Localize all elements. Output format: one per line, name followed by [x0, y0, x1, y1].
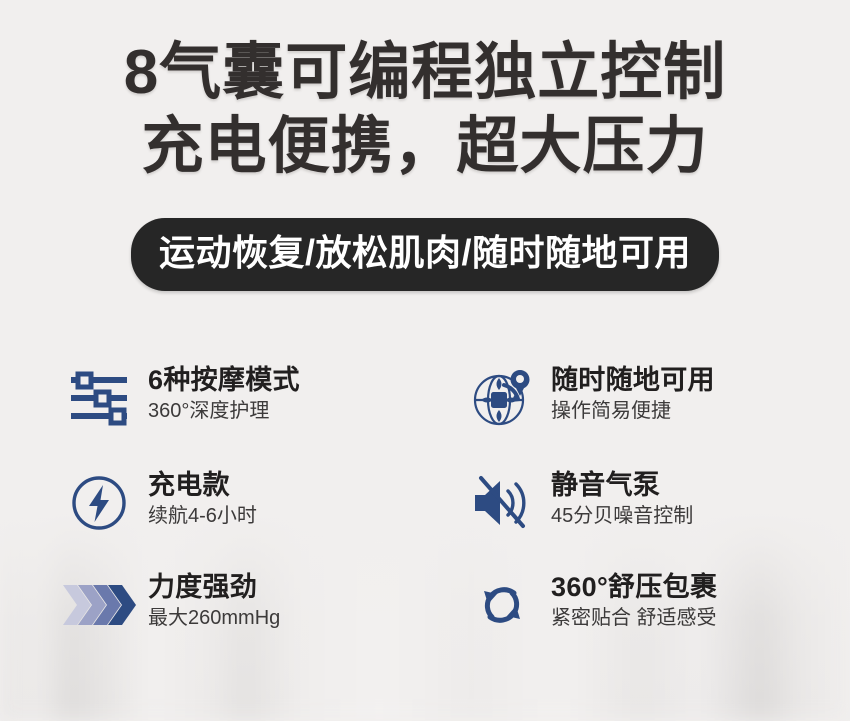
feature-subtitle: 45分贝噪音控制 — [551, 503, 693, 530]
feature-grid: 6种按摩模式 360°深度护理 — [0, 363, 850, 658]
badge-container: 运动恢复/放松肌肉/随时随地可用 — [0, 218, 850, 291]
globe-location-icon — [465, 365, 539, 431]
feature-item-360-wrap: 360°舒压包裹 紧密贴合 舒适感受 — [457, 570, 850, 658]
feature-subtitle: 紧密贴合 舒适感受 — [551, 605, 717, 632]
feature-title: 力度强劲 — [148, 571, 280, 603]
sliders-icon — [62, 365, 136, 431]
feature-text: 6种按摩模式 360°深度护理 — [136, 363, 300, 425]
feature-text: 静音气泵 45分贝噪音控制 — [539, 468, 693, 530]
feature-title: 6种按摩模式 — [148, 364, 300, 396]
feature-item-rechargeable: 充电款 续航4-6小时 — [62, 468, 457, 570]
lightning-bolt-circle-icon — [62, 470, 136, 536]
banner-content: 8气囊可编程独立控制 充电便携，超大压力 运动恢复/放松肌肉/随时随地可用 — [0, 0, 850, 721]
feature-title: 360°舒压包裹 — [551, 571, 717, 603]
feature-item-strong-pressure: 力度强劲 最大260mmHg — [62, 570, 457, 658]
feature-text: 充电款 续航4-6小时 — [136, 468, 257, 530]
headline: 8气囊可编程独立控制 充电便携，超大压力 — [0, 0, 850, 184]
chevrons-right-icon — [62, 572, 136, 638]
feature-subtitle: 续航4-6小时 — [148, 503, 257, 530]
feature-text: 随时随地可用 操作简易便捷 — [539, 363, 715, 425]
speaker-mute-icon — [465, 470, 539, 536]
feature-subtitle: 最大260mmHg — [148, 605, 280, 632]
headline-line-1: 8气囊可编程独立控制 — [0, 36, 850, 110]
product-feature-banner: 8气囊可编程独立控制 充电便携，超大压力 运动恢复/放松肌肉/随时随地可用 — [0, 0, 850, 721]
rotate-360-icon — [465, 572, 539, 638]
feature-text: 力度强劲 最大260mmHg — [136, 570, 280, 632]
feature-subtitle: 360°深度护理 — [148, 398, 300, 425]
feature-title: 充电款 — [148, 469, 257, 501]
feature-item-quiet-pump: 静音气泵 45分贝噪音控制 — [457, 468, 850, 570]
feature-text: 360°舒压包裹 紧密贴合 舒适感受 — [539, 570, 717, 632]
feature-title: 静音气泵 — [551, 469, 693, 501]
headline-line-2: 充电便携，超大压力 — [0, 110, 850, 184]
feature-item-anywhere: 随时随地可用 操作简易便捷 — [457, 363, 850, 468]
tagline-badge: 运动恢复/放松肌肉/随时随地可用 — [131, 218, 719, 291]
feature-item-massage-modes: 6种按摩模式 360°深度护理 — [62, 363, 457, 468]
feature-title: 随时随地可用 — [551, 364, 715, 396]
feature-subtitle: 操作简易便捷 — [551, 398, 715, 425]
